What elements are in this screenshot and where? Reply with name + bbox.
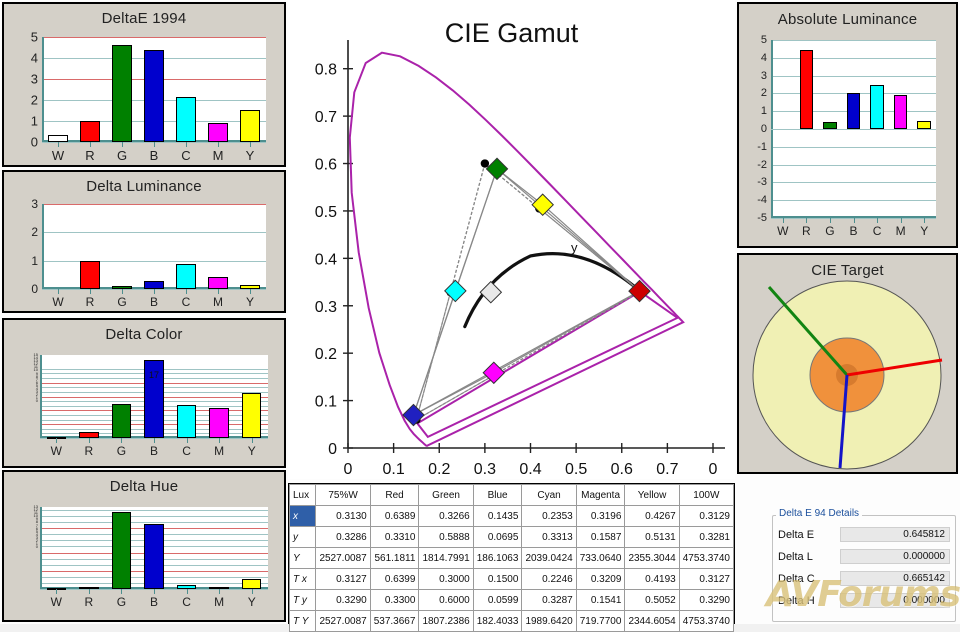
x-axis-label-M: M	[213, 295, 223, 309]
table-cell[interactable]: 0.3266	[419, 506, 473, 527]
table-row[interactable]: T Y2527.0087537.36671807.2386182.4033198…	[290, 611, 734, 632]
table-row[interactable]: T y0.32900.33000.60000.05990.32870.15410…	[290, 590, 734, 611]
chart-deltahue-plot	[40, 507, 268, 589]
panel-delta-luminance: Delta Luminance 0123WRGBCMY	[2, 170, 286, 313]
bar-Y	[917, 121, 931, 129]
y-axis-tick-label: 131211109876543210	[24, 505, 38, 548]
bar-R	[800, 50, 814, 129]
x-axis-tick	[219, 438, 220, 443]
table-row[interactable]: Y2527.0087561.18111814.7991186.10632039.…	[290, 548, 734, 569]
x-axis-tick	[90, 142, 91, 147]
y-axis-tick-label: 3	[12, 72, 38, 87]
y-axis-tick-label: 1514131211109876543210	[24, 353, 38, 403]
x-axis-tick	[89, 438, 90, 443]
table-cell[interactable]: 561.1811	[370, 548, 419, 569]
x-axis-tick	[187, 438, 188, 443]
gridline	[771, 182, 936, 183]
x-axis-label-M: M	[896, 224, 906, 238]
x-axis-tick	[924, 218, 925, 223]
y-axis-tick-label: 2	[12, 225, 38, 239]
bar-R	[80, 261, 100, 289]
table-cell[interactable]: 0.1587	[576, 527, 625, 548]
table-cell[interactable]: 0.5888	[419, 527, 473, 548]
y-axis-tick-label: 0	[741, 123, 767, 135]
x-axis-label-R: R	[802, 224, 811, 238]
zero-line	[771, 129, 936, 130]
details-label: Delta L	[778, 551, 813, 563]
table-row-header[interactable]: T x	[290, 569, 316, 590]
x-axis-label-G: G	[825, 224, 834, 238]
x-axis-label-R: R	[86, 295, 95, 309]
measured-secondary-edge	[543, 205, 640, 291]
table-column-header[interactable]: 100W	[679, 485, 733, 506]
y-axis-tick-label: -2	[741, 159, 767, 171]
x-axis-label-W: W	[51, 595, 62, 609]
y-axis-tick-label: 0	[12, 282, 38, 296]
x-axis-tick	[89, 589, 90, 594]
x-axis-label-C: C	[182, 595, 191, 609]
table-cell[interactable]: 733.0640	[576, 548, 625, 569]
table-row-header[interactable]: x	[290, 506, 316, 527]
x-axis-label-Y: Y	[248, 444, 256, 458]
gridline	[771, 40, 936, 41]
cie-x-tick-label: 0.3	[474, 461, 496, 478]
chart-deltalum-plot	[42, 204, 266, 289]
cie-y-tick-label: 0.3	[315, 299, 337, 316]
table-cell[interactable]: 0.3313	[522, 527, 576, 548]
gridline	[771, 147, 936, 148]
table-column-header[interactable]: Lux	[290, 485, 316, 506]
gridline	[771, 165, 936, 166]
y-axis	[40, 355, 42, 438]
details-row: Delta L0.000000	[778, 549, 954, 567]
cie-y-tick-label: 0.1	[315, 394, 337, 411]
y-axis	[42, 37, 44, 142]
details-label: Delta C	[778, 573, 815, 585]
x-axis-label-W: W	[51, 444, 62, 458]
table-column-header[interactable]: Blue	[473, 485, 522, 506]
cie-y-tick-label: 0.2	[315, 346, 337, 363]
table-cell[interactable]: 0.1541	[576, 590, 625, 611]
delta-e-94-details-panel: Delta E 94 Details Delta E0.645812Delta …	[762, 505, 960, 624]
x-axis-label-G: G	[117, 148, 127, 163]
x-axis-label-Y: Y	[246, 295, 254, 309]
table-row-header[interactable]: T y	[290, 590, 316, 611]
table-cell[interactable]: 0.5052	[625, 590, 679, 611]
cie-y-tick-label: 0.7	[315, 109, 337, 126]
table-cell[interactable]: 0.0599	[473, 590, 522, 611]
spectral-locus	[350, 53, 683, 446]
gridline	[771, 200, 936, 201]
bar-B	[144, 281, 164, 290]
table-cell[interactable]: 1814.7991	[419, 548, 473, 569]
x-axis-tick	[56, 438, 57, 443]
x-axis-label-B: B	[150, 444, 158, 458]
table-cell[interactable]: 1807.2386	[419, 611, 473, 632]
bar-R	[80, 121, 100, 142]
y-axis-tick-label: 2	[12, 93, 38, 108]
x-axis-label-R: R	[85, 148, 94, 163]
cie-y-tick-label: 0	[328, 441, 337, 458]
x-axis-label-W: W	[777, 224, 788, 238]
table-row-header[interactable]: T Y	[290, 611, 316, 632]
cie-x-tick-label: 0.2	[428, 461, 450, 478]
x-axis-label-Y: Y	[248, 595, 256, 609]
table-cell[interactable]: 0.3130	[316, 506, 370, 527]
table-cell[interactable]: 0.1435	[473, 506, 522, 527]
table-column-header[interactable]: Red	[370, 485, 419, 506]
bar-M	[208, 123, 228, 142]
table-cell[interactable]: 537.3667	[370, 611, 419, 632]
x-axis-tick	[219, 589, 220, 594]
x-axis-label-B: B	[150, 595, 158, 609]
x-axis-tick	[830, 218, 831, 223]
bar-W	[48, 135, 68, 142]
table-cell[interactable]: 0.4267	[625, 506, 679, 527]
panel-title-abslum: Absolute Luminance	[739, 11, 956, 28]
table-cell[interactable]: 0.3127	[679, 569, 733, 590]
gridline	[42, 232, 266, 233]
bar-Y	[242, 579, 262, 589]
table-cell[interactable]: 182.4033	[473, 611, 522, 632]
x-axis-tick	[218, 289, 219, 294]
table-header-row: Lux75%WRedGreenBlueCyanMagentaYellow100W	[290, 485, 734, 506]
table-row-header[interactable]: Y	[290, 548, 316, 569]
x-axis-label-R: R	[85, 595, 94, 609]
x-axis-tick	[154, 289, 155, 294]
x-axis-tick	[187, 589, 188, 594]
point-target-Green	[481, 159, 489, 167]
x-axis-label-Y: Y	[920, 224, 928, 238]
measurement-table[interactable]: Lux75%WRedGreenBlueCyanMagentaYellow100W…	[288, 483, 735, 624]
x-axis-tick	[90, 289, 91, 294]
gridline	[40, 510, 268, 511]
x-axis-label-B: B	[849, 224, 857, 238]
x-axis-label-C: C	[182, 295, 191, 309]
x-axis-label-B: B	[150, 148, 159, 163]
table-cell[interactable]: 0.2353	[522, 506, 576, 527]
table-cell[interactable]: 0.3129	[679, 506, 733, 527]
table-cell[interactable]: 0.6000	[419, 590, 473, 611]
details-value: 0.000000	[840, 593, 950, 608]
table-row[interactable]: y0.32860.33100.58880.06950.33130.15870.5…	[290, 527, 734, 548]
cie-x-tick-label: 0	[344, 461, 353, 478]
chart-deltacolor-plot: 17	[40, 355, 268, 438]
gridline	[771, 76, 936, 77]
x-axis-tick	[250, 142, 251, 147]
table-cell[interactable]: 4753.3740	[679, 611, 733, 632]
bar-M	[209, 408, 229, 438]
y-axis-tick-label: 1	[12, 254, 38, 268]
x-axis-label-G: G	[117, 444, 126, 458]
x-axis-label-M: M	[213, 148, 224, 163]
point-measured-Green	[486, 158, 507, 179]
measured-secondary-edge	[455, 169, 497, 291]
table-cell[interactable]: 2355.3044	[625, 548, 679, 569]
details-row: Delta C0.665142	[778, 571, 954, 589]
x-axis-label-G: G	[117, 595, 126, 609]
bar-M	[894, 95, 908, 129]
table-cell[interactable]: 0.3310	[370, 527, 419, 548]
x-axis-tick	[121, 589, 122, 594]
cie-target-svg	[739, 255, 956, 472]
cie-x-tick-label: 0.1	[383, 461, 405, 478]
table-cell[interactable]: 2527.0087	[316, 611, 370, 632]
table-cell[interactable]: 0.3000	[419, 569, 473, 590]
table-cell[interactable]: 0.3127	[316, 569, 370, 590]
x-axis-tick	[56, 589, 57, 594]
target-secondary-edge	[416, 375, 494, 420]
cie-x-tick-label: 0	[709, 461, 718, 478]
table-column-header[interactable]: 75%W	[316, 485, 370, 506]
bar-C	[176, 97, 196, 142]
bar-G	[112, 404, 132, 438]
x-axis-tick	[250, 289, 251, 294]
table-cell[interactable]: 0.2246	[522, 569, 576, 590]
table-row-header[interactable]: y	[290, 527, 316, 548]
panel-deltae-1994: DeltaE 1994 012345WRGBCMY	[2, 2, 286, 167]
table-cell[interactable]: 0.1500	[473, 569, 522, 590]
x-axis-label-R: R	[85, 444, 94, 458]
table-cell[interactable]: 0.3300	[370, 590, 419, 611]
cie-x-tick-label: 0.5	[565, 461, 587, 478]
table-cell[interactable]: 0.6389	[370, 506, 419, 527]
y-axis-tick-label: -4	[741, 194, 767, 206]
target-secondary-edge	[450, 164, 484, 293]
table-cell[interactable]: 0.3286	[316, 527, 370, 548]
bar-Y	[240, 110, 260, 142]
bar-C	[870, 85, 884, 129]
cie-x-tick-label: 0.4	[519, 461, 541, 478]
x-axis-label-W: W	[52, 148, 64, 163]
table-cell[interactable]: 719.7700	[576, 611, 625, 632]
panel-delta-color: Delta Color 17 1514131211109876543210WRG…	[2, 318, 286, 468]
reference-gamut-outline	[417, 292, 677, 437]
cie-x-tick-label: 0.7	[656, 461, 678, 478]
x-axis-label-M: M	[214, 444, 224, 458]
y-axis	[40, 507, 42, 589]
y-axis-tick-label: -3	[741, 176, 767, 188]
table-cell[interactable]: 2039.0424	[522, 548, 576, 569]
x-axis-tick	[58, 289, 59, 294]
details-value: 0.000000	[840, 549, 950, 564]
bar-B	[144, 50, 164, 142]
table-column-header[interactable]: Magenta	[576, 485, 625, 506]
y-axis-tick-label: 4	[12, 51, 38, 66]
table-cell[interactable]: 0.3209	[576, 569, 625, 590]
x-axis-label-Y: Y	[246, 148, 255, 163]
panel-title-deltae: DeltaE 1994	[4, 10, 284, 27]
table-cell[interactable]: 0.5131	[625, 527, 679, 548]
cie-y-tick-label: 0.5	[315, 204, 337, 221]
table-cell[interactable]: 2527.0087	[316, 548, 370, 569]
measured-secondary-edge	[494, 291, 640, 373]
y-axis-tick-label: 1	[12, 114, 38, 129]
details-group-label: Delta E 94 Details	[776, 508, 862, 519]
panel-absolute-luminance: Absolute Luminance 543210-1-2-3-4-5WRGBC…	[737, 2, 958, 248]
table-body: x0.31300.63890.32660.14350.23530.31960.4…	[290, 506, 734, 632]
x-axis-tick	[122, 289, 123, 294]
cie-y-tick-label: 0.8	[315, 62, 337, 79]
x-axis-tick	[154, 589, 155, 594]
threshold-line	[42, 37, 266, 38]
table-cell[interactable]: 0.3287	[522, 590, 576, 611]
y-axis-tick-label: -1	[741, 141, 767, 153]
table-cell[interactable]: 0.4193	[625, 569, 679, 590]
x-axis-tick	[121, 438, 122, 443]
x-axis-tick	[154, 438, 155, 443]
point-measured-White	[480, 282, 501, 303]
bar-C	[177, 405, 197, 438]
y-axis-tick-label: 5	[12, 30, 38, 45]
x-axis-tick	[218, 142, 219, 147]
measured-secondary-edge	[497, 169, 543, 205]
x-axis-tick	[854, 218, 855, 223]
gridline	[40, 516, 268, 517]
panel-cie-target: CIE Target	[737, 253, 958, 474]
details-value: 0.665142	[840, 571, 950, 586]
y-axis-tick-label: 2	[741, 87, 767, 99]
x-axis-label-B: B	[150, 295, 158, 309]
y-axis-tick-label: -5	[741, 212, 767, 224]
chart-deltae-plot	[42, 37, 266, 142]
cie-x-tick-label: 0.6	[611, 461, 633, 478]
table-cell[interactable]: 2344.6054	[625, 611, 679, 632]
point-measured-Cyan	[445, 280, 466, 301]
x-axis-tick	[252, 438, 253, 443]
bar-G	[112, 512, 132, 589]
table-cell[interactable]: 1989.6420	[522, 611, 576, 632]
bar-G	[112, 45, 132, 142]
x-axis-tick	[58, 142, 59, 147]
x-axis-tick	[901, 218, 902, 223]
y-axis-tick-label: 3	[741, 70, 767, 82]
gridline	[42, 261, 266, 262]
table-column-header[interactable]: Cyan	[522, 485, 576, 506]
table-cell[interactable]: 0.3196	[576, 506, 625, 527]
y-axis-tick-label: 5	[741, 34, 767, 46]
table-cell[interactable]: 0.0695	[473, 527, 522, 548]
panel-title-deltahue: Delta Hue	[4, 478, 284, 495]
threshold-line	[42, 204, 266, 205]
x-axis-label-C: C	[873, 224, 882, 238]
y-axis-tick-label: 0	[12, 135, 38, 150]
table-column-header[interactable]: Yellow	[625, 485, 679, 506]
cie-y-tick-label: 0.4	[315, 251, 337, 268]
x-axis-label-M: M	[214, 595, 224, 609]
table-column-header[interactable]: Green	[419, 485, 473, 506]
x-axis-tick	[252, 589, 253, 594]
chart-cie-gamut: CIE Gamut y 00.10.20.30.40.50.60.70.800.…	[288, 0, 735, 479]
details-row: Delta E0.645812	[778, 527, 954, 545]
table-row[interactable]: T x0.31270.63990.30000.15000.22460.32090…	[290, 569, 734, 590]
x-axis-label-C: C	[182, 444, 191, 458]
x-axis-tick	[806, 218, 807, 223]
details-value: 0.645812	[840, 527, 950, 542]
table-cell[interactable]: 0.3281	[679, 527, 733, 548]
measurement-table-grid: Lux75%WRedGreenBlueCyanMagentaYellow100W…	[289, 484, 734, 632]
chart-abslum-plot	[771, 40, 936, 218]
cie-y-tick-label: 0.6	[315, 157, 337, 174]
app-root: DeltaE 1994 012345WRGBCMY Delta Luminanc…	[0, 0, 960, 624]
details-row: Delta H0.000000	[778, 593, 954, 611]
y-axis-tick-label: 4	[741, 52, 767, 64]
bar-B	[847, 93, 861, 129]
table-cell[interactable]: 0.3290	[679, 590, 733, 611]
table-row[interactable]: x0.31300.63890.32660.14350.23530.31960.4…	[290, 506, 734, 527]
x-axis-tick	[122, 142, 123, 147]
x-axis-tick	[154, 142, 155, 147]
y-axis-tick-label: 1	[741, 105, 767, 117]
bar-G	[823, 122, 837, 129]
y-axis	[42, 204, 44, 289]
y-axis-tick-label: 3	[12, 197, 38, 211]
gridline	[771, 58, 936, 59]
bar-value-label: 17	[149, 370, 159, 380]
panel-delta-hue: Delta Hue 131211109876543210WRGBCMY	[2, 470, 286, 622]
x-axis-label-G: G	[117, 295, 126, 309]
x-axis-tick	[783, 218, 784, 223]
cie-gamut-svg: 00.10.20.30.40.50.60.70.800.10.20.30.40.…	[288, 0, 735, 479]
x-axis-tick	[877, 218, 878, 223]
details-label: Delta H	[778, 595, 815, 607]
table-cell[interactable]: 186.1063	[473, 548, 522, 569]
details-label: Delta E	[778, 529, 814, 541]
table-cell[interactable]: 0.3290	[316, 590, 370, 611]
panel-title-deltacolor: Delta Color	[4, 326, 284, 343]
bar-B	[144, 524, 164, 589]
x-axis-tick	[186, 142, 187, 147]
bar-C	[176, 264, 196, 289]
panel-title-deltalum: Delta Luminance	[4, 178, 284, 195]
bar-Y	[242, 393, 262, 438]
x-axis-label-C: C	[181, 148, 190, 163]
x-axis-label-W: W	[52, 295, 63, 309]
target-secondary-edge	[494, 292, 640, 375]
x-axis-tick	[186, 289, 187, 294]
table-cell[interactable]: 0.6399	[370, 569, 419, 590]
bar-M	[208, 277, 228, 289]
table-cell[interactable]: 4753.3740	[679, 548, 733, 569]
